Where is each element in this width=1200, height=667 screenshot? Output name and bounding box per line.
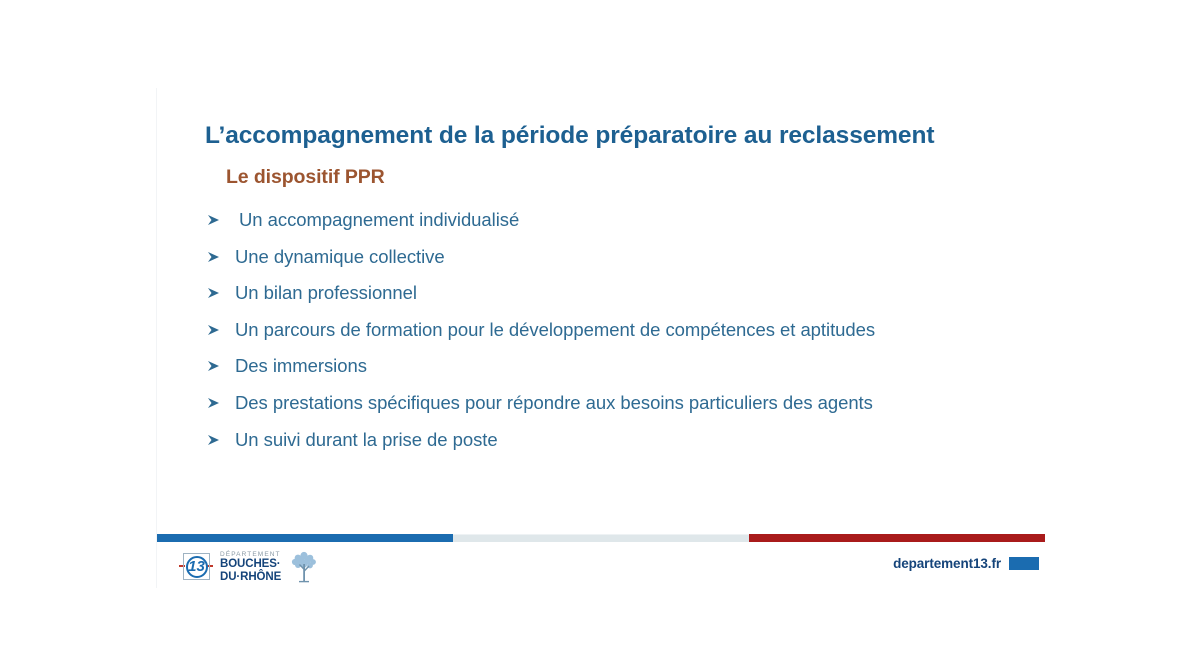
arrow-bullet-icon: [207, 208, 225, 226]
olive-tree-icon: [289, 551, 319, 583]
arrow-bullet-icon: [207, 318, 225, 336]
list-item: Un bilan professionnel: [205, 281, 1005, 306]
slide-subtitle: Le dispositif PPR: [226, 166, 385, 189]
list-item-label: Un parcours de formation pour le dévelop…: [235, 318, 1005, 343]
logo-department-label: DÉPARTEMENT: [220, 551, 281, 558]
list-item: Des prestations spécifiques pour répondr…: [205, 391, 1005, 416]
arrow-bullet-icon: [207, 245, 225, 263]
list-item-label: Un suivi durant la prise de poste: [235, 428, 1005, 453]
list-item: Une dynamique collective: [205, 245, 1005, 270]
tricolor-red-segment: [749, 534, 1045, 542]
list-item: Un suivi durant la prise de poste: [205, 428, 1005, 453]
bullet-list: Un accompagnement individualisé Une dyna…: [205, 208, 1005, 464]
french-tricolor-rule: [157, 534, 1045, 542]
emblem-number: 13: [186, 556, 208, 578]
website-link[interactable]: departement13.fr: [893, 556, 1039, 571]
list-item-label: Des immersions: [235, 354, 1005, 379]
list-item: Un accompagnement individualisé: [205, 208, 1005, 233]
logo-name-line-2: DU·RHÔNE: [220, 571, 281, 583]
website-url-label: departement13.fr: [893, 556, 1001, 571]
tricolor-blue-segment: [157, 534, 453, 542]
department-logo: 13 DÉPARTEMENT BOUCHES· DU·RHÔNE: [179, 550, 319, 584]
list-item-label: Des prestations spécifiques pour répondr…: [235, 391, 1005, 416]
department-13-emblem-icon: 13: [179, 552, 213, 582]
slide-footer: 13 DÉPARTEMENT BOUCHES· DU·RHÔNE: [157, 542, 1045, 588]
list-item: Des immersions: [205, 354, 1005, 379]
arrow-bullet-icon: [207, 354, 225, 372]
slide-canvas: L’accompagnement de la période préparato…: [156, 88, 1044, 588]
list-item-label: Une dynamique collective: [235, 245, 1005, 270]
list-item: Un parcours de formation pour le dévelop…: [205, 318, 1005, 343]
page-title: L’accompagnement de la période préparato…: [205, 122, 1015, 150]
logo-name-line-1: BOUCHES·: [220, 558, 281, 570]
website-blue-square: [1009, 557, 1039, 570]
logo-wordmark: DÉPARTEMENT BOUCHES· DU·RHÔNE: [220, 551, 281, 583]
arrow-bullet-icon: [207, 391, 225, 409]
tricolor-white-segment: [453, 534, 749, 542]
arrow-bullet-icon: [207, 428, 225, 446]
list-item-label: Un bilan professionnel: [235, 281, 1005, 306]
list-item-label: Un accompagnement individualisé: [239, 208, 1005, 233]
arrow-bullet-icon: [207, 281, 225, 299]
